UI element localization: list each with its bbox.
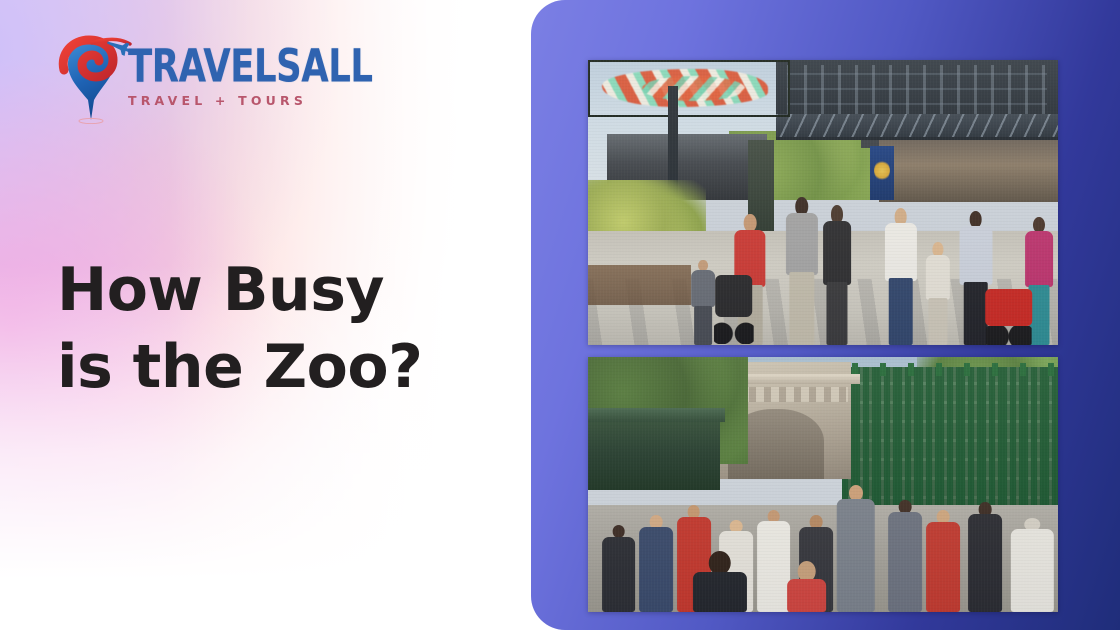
figure-body xyxy=(884,223,916,280)
figure-body xyxy=(787,579,827,612)
page-title-line-2: is the Zoo? xyxy=(57,329,487,406)
brand-wordmark: TRAVELSALL xyxy=(128,46,334,88)
figure-body xyxy=(693,572,747,612)
visitor-figure xyxy=(922,510,964,612)
red-wagon xyxy=(983,282,1035,345)
figure-body xyxy=(1025,231,1053,287)
figure-legs xyxy=(789,272,814,345)
poster-canvas: TRAVELSALL TRAVEL + TOURS How Busy is th… xyxy=(0,0,1120,630)
figure-body xyxy=(1011,529,1053,612)
historic-zoo-gate-photo xyxy=(588,357,1058,612)
pin-swoosh-airplane-icon xyxy=(58,34,134,124)
mulch-bed xyxy=(588,265,691,305)
stroller-frame xyxy=(715,275,753,316)
page-title-line-1: How Busy xyxy=(57,252,487,329)
stroller-wheels xyxy=(713,318,753,343)
bottom-photo-scene xyxy=(588,357,1058,612)
pavilion-roof xyxy=(588,408,725,422)
brand-logo[interactable]: TRAVELSALL TRAVEL + TOURS xyxy=(58,32,298,130)
right-building xyxy=(879,140,1058,203)
zoo-entrance-plaza-photo xyxy=(588,60,1058,345)
visitor-figure xyxy=(832,485,879,613)
visitor-figure xyxy=(597,525,639,612)
visitor-figure xyxy=(964,502,1006,612)
visitor-figure xyxy=(884,500,926,612)
visitor-figure xyxy=(922,242,955,345)
green-pavilion xyxy=(588,418,720,489)
figure-body xyxy=(968,514,1002,612)
visitor-figure xyxy=(691,551,747,612)
figure-body xyxy=(837,499,876,612)
figure-legs xyxy=(929,298,948,345)
visitor-figure xyxy=(785,561,827,612)
figure-body xyxy=(823,221,851,285)
digital-display-screen xyxy=(588,60,790,117)
visitor-figure xyxy=(635,515,677,612)
visitor-figure xyxy=(781,197,823,345)
figure-body xyxy=(786,213,818,275)
gate-finials xyxy=(842,363,1058,376)
stroller xyxy=(710,271,757,345)
coral-image-b xyxy=(642,76,745,101)
visitor-figure xyxy=(818,205,856,345)
brand-tagline: TRAVEL + TOURS xyxy=(128,93,343,108)
figure-body xyxy=(926,522,960,612)
figure-legs xyxy=(827,282,848,345)
visitor-figure xyxy=(1006,518,1058,612)
right-media-panel xyxy=(531,0,1120,630)
figure-body xyxy=(602,537,636,612)
top-photo-scene xyxy=(588,60,1058,345)
gantry-beam xyxy=(776,114,1058,137)
visitor-figure xyxy=(879,208,921,345)
beam-lattice xyxy=(776,114,1058,137)
figure-legs xyxy=(888,278,913,345)
figure-body xyxy=(639,527,673,612)
figure-body xyxy=(888,512,922,612)
figure-body xyxy=(926,255,950,300)
brand-logo-text: TRAVELSALL TRAVEL + TOURS xyxy=(128,46,343,108)
wagon-body xyxy=(985,289,1033,327)
page-title: How Busy is the Zoo? xyxy=(57,252,487,407)
blue-banner xyxy=(870,146,894,200)
figure-body xyxy=(959,226,992,285)
wagon-wheels xyxy=(985,326,1032,345)
